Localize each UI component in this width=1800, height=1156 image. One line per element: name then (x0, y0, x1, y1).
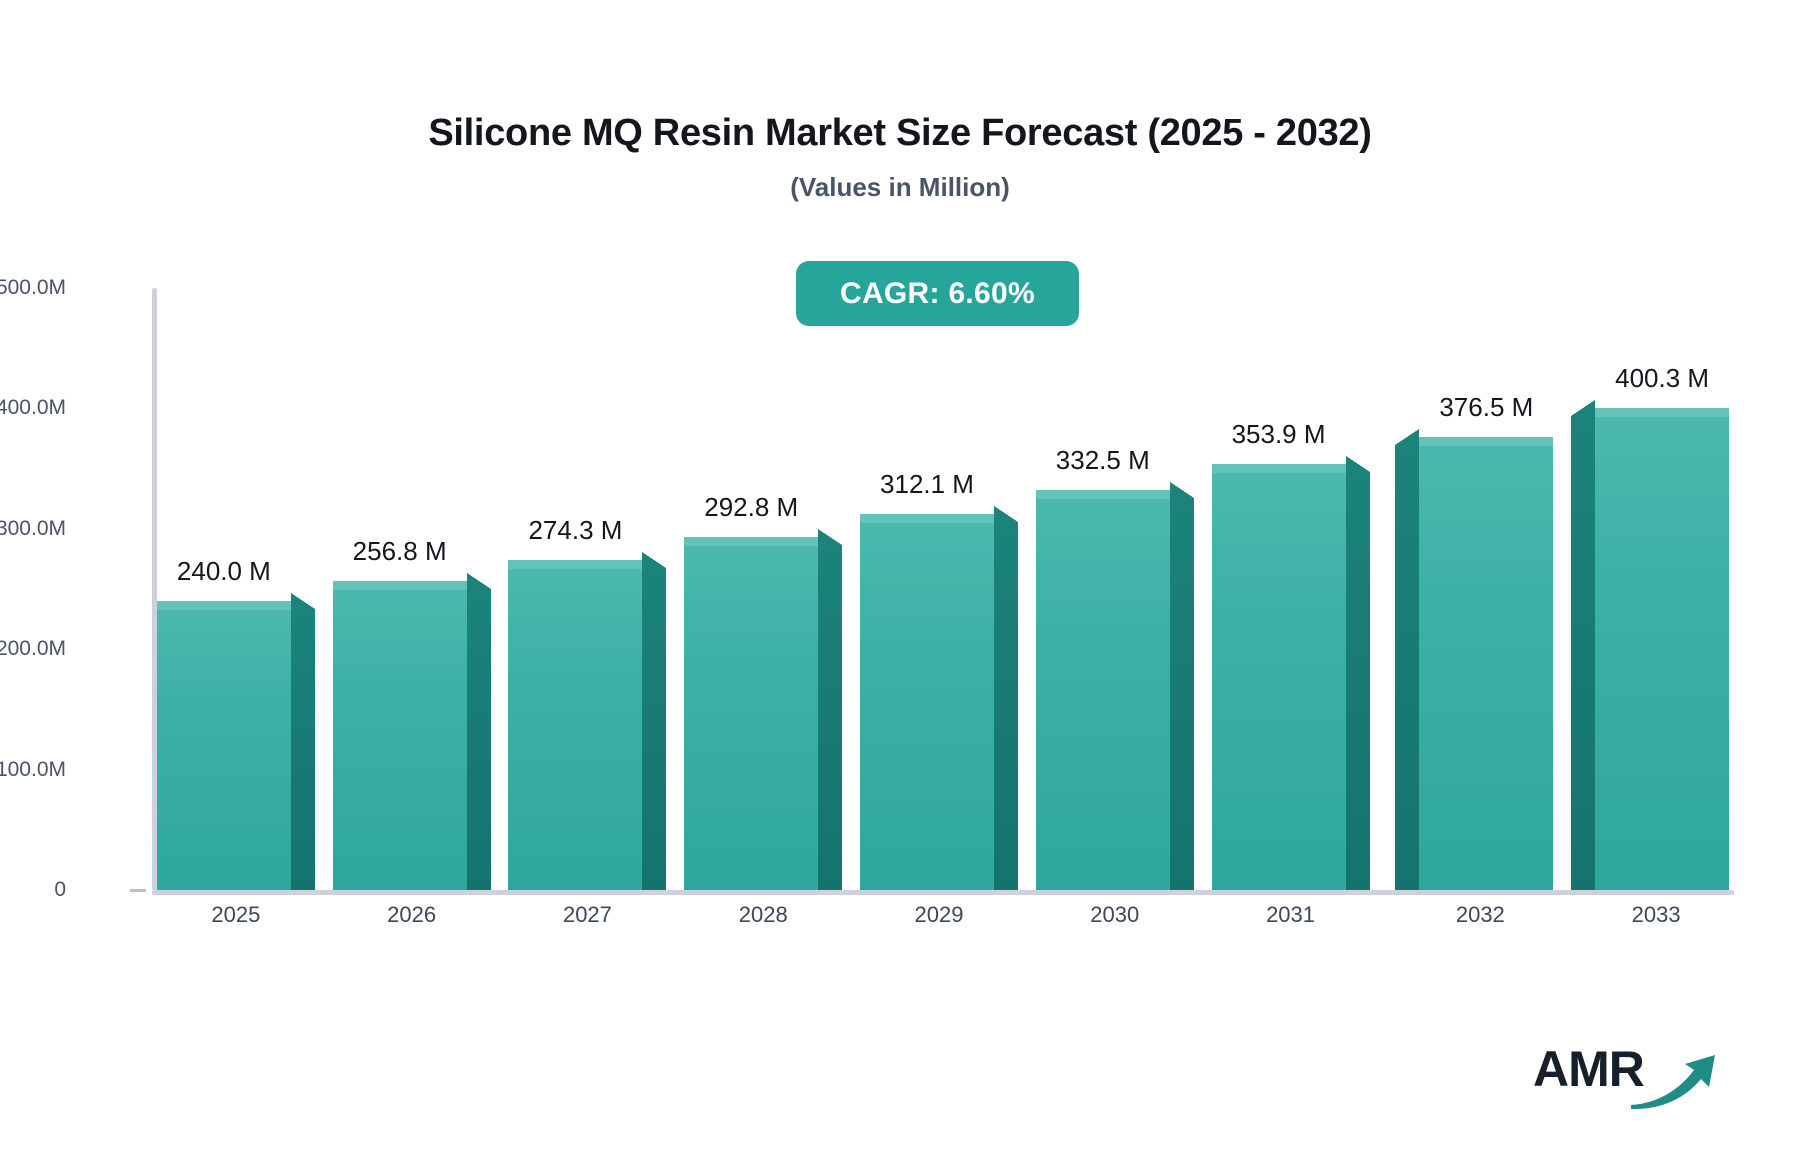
bar-value-label: 256.8 M (353, 536, 447, 567)
bar-top-face (508, 560, 642, 569)
bar-top-face (1212, 464, 1346, 473)
bar-side-face (994, 522, 1018, 890)
bar-top-bevel (818, 529, 842, 545)
bar-2030[interactable]: 332.5 M (1036, 490, 1170, 890)
bar-side-face (291, 609, 315, 890)
x-axis-label-2030: 2030 (1090, 902, 1139, 928)
y-axis-tick-label: 300.0M (0, 517, 66, 541)
bar-side-face (818, 545, 842, 890)
bar-side-face (1346, 472, 1370, 890)
bar-top-bevel (1571, 400, 1595, 416)
x-axis-label-2032: 2032 (1456, 902, 1505, 928)
bar-value-label: 312.1 M (880, 469, 974, 500)
bar-2028[interactable]: 292.8 M (684, 537, 818, 890)
bar-front-face (1036, 490, 1170, 890)
amr-logo-text: AMR (1533, 1040, 1644, 1098)
x-axis-label-2028: 2028 (739, 902, 788, 928)
chart-page: Silicone MQ Resin Market Size Forecast (… (0, 0, 1800, 1156)
bar-value-label: 353.9 M (1232, 419, 1326, 450)
bar-value-label: 240.0 M (177, 556, 271, 587)
bar-front-face (508, 560, 642, 890)
page-subtitle: (Values in Million) (0, 172, 1800, 203)
x-axis-label-2031: 2031 (1266, 902, 1315, 928)
bar-2031[interactable]: 353.9 M (1212, 464, 1346, 890)
bar-2025[interactable]: 240.0 M (157, 601, 291, 890)
bar-top-face (1595, 408, 1729, 417)
bar-top-face (684, 537, 818, 546)
bar-value-label: 274.3 M (528, 515, 622, 546)
y-axis-tick-label: 500.0M (0, 276, 66, 300)
bar-top-face (860, 514, 994, 523)
x-axis-label-2027: 2027 (563, 902, 612, 928)
bar-side-face (1170, 498, 1194, 890)
bar-top-bevel (1346, 456, 1370, 472)
bar-front-face (1212, 464, 1346, 890)
y-axis-tick-label: 200.0M (0, 637, 66, 661)
bar-front-face (1419, 437, 1553, 890)
bar-front-face (333, 581, 467, 890)
bar-2027[interactable]: 274.3 M (508, 560, 642, 890)
x-axis-line (152, 890, 1734, 895)
bar-2026[interactable]: 256.8 M (333, 581, 467, 890)
bar-side-face (642, 568, 666, 890)
y-axis-tick-mark (130, 889, 146, 892)
bar-top-bevel (994, 506, 1018, 522)
bar-2029[interactable]: 312.1 M (860, 514, 994, 890)
bar-side-face (1571, 416, 1595, 890)
x-axis-label-2025: 2025 (211, 902, 260, 928)
bar-front-face (684, 537, 818, 890)
bar-top-face (157, 601, 291, 610)
bar-value-label: 292.8 M (704, 492, 798, 523)
bar-value-label: 400.3 M (1615, 363, 1709, 394)
x-axis-label-2033: 2033 (1632, 902, 1681, 928)
x-axis-label-2026: 2026 (387, 902, 436, 928)
amr-logo: AMR (1533, 1040, 1723, 1110)
bar-2032[interactable]: 376.5 M (1419, 437, 1553, 890)
bar-top-bevel (642, 552, 666, 568)
bar-top-bevel (1395, 429, 1419, 445)
bar-side-face (467, 589, 491, 890)
growth-arrow-icon (1629, 1053, 1721, 1111)
page-title: Silicone MQ Resin Market Size Forecast (… (0, 112, 1800, 155)
bar-top-bevel (1170, 482, 1194, 498)
bar-top-bevel (467, 573, 491, 589)
chart-plot-area: 0100.0M200.0M300.0M400.0M500.0M 240.0 M2… (152, 288, 1734, 890)
bar-value-label: 376.5 M (1439, 392, 1533, 423)
bar-front-face (860, 514, 994, 890)
bar-side-face (1395, 445, 1419, 890)
bar-top-face (1419, 437, 1553, 446)
bar-top-face (1036, 490, 1170, 499)
bar-top-bevel (291, 593, 315, 609)
bar-2033[interactable]: 400.3 M (1595, 408, 1729, 890)
bar-value-label: 332.5 M (1056, 445, 1150, 476)
bar-front-face (157, 601, 291, 890)
bar-top-face (333, 581, 467, 590)
x-axis-label-2029: 2029 (915, 902, 964, 928)
y-axis-tick-label: 400.0M (0, 396, 66, 420)
y-axis-tick-label: 100.0M (0, 758, 66, 782)
y-axis-tick-label: 0 (0, 878, 66, 902)
bar-front-face (1595, 408, 1729, 890)
